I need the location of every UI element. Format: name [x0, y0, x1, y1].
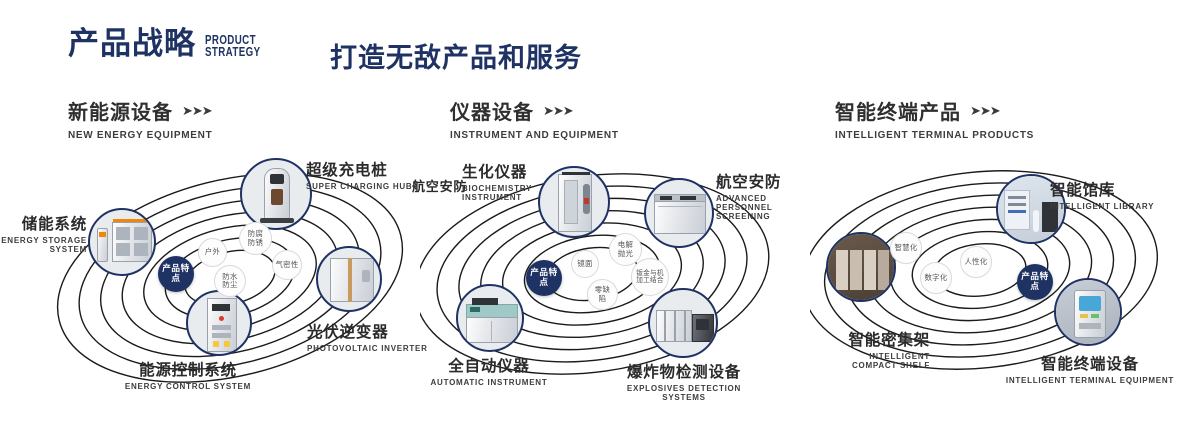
label-energy-control-system: 能源控制系统 ENERGY CONTROL SYSTEM: [98, 358, 278, 391]
terminal-kiosk-icon: [1056, 280, 1120, 344]
label-cn: 生化仪器: [462, 160, 568, 182]
cluster-instrument: 产品特点 镜面 电解抛光 零缺陷 钣金与机加工结合 航空安防 生化仪器 BIOC…: [420, 150, 820, 400]
feature-label: 产品特点: [526, 268, 562, 287]
label-en: AUTOMATIC INSTRUMENT: [414, 378, 564, 387]
section-heading-intelligent-terminal: 智能终端产品 ➤➤➤ INTELLIGENT TERMINAL PRODUCTS: [835, 96, 1034, 141]
feature-bubble-core[interactable]: 产品特点: [526, 260, 562, 296]
section-title-cn: 新能源设备: [68, 96, 173, 125]
label-en: ENERGY STORAGE SYSTEM: [0, 236, 87, 254]
feature-bubble-zero-defect[interactable]: 零缺陷: [587, 279, 618, 310]
label-compact-shelf: 智能密集架 INTELLIGENT COMPACT SHELF: [805, 328, 930, 370]
feature-bubble-sheetmetal-machining[interactable]: 钣金与机加工结合: [631, 258, 669, 296]
label-en: INTELLIGENT COMPACT SHELF: [834, 352, 930, 370]
explosives-detector-icon: [650, 290, 716, 356]
label-smart-library: 智能馆库 INTELLIGENT LIBRARY: [1050, 178, 1200, 211]
label-cn: 能源控制系统: [98, 358, 278, 380]
label-cn: 储能系统: [0, 212, 87, 234]
page-subtitle: 打造无敌产品和服务: [330, 36, 582, 75]
feature-bubble-core[interactable]: 产品特点: [158, 256, 194, 292]
feature-label: 产品特点: [1017, 272, 1053, 291]
section-title-en: INTELLIGENT TERMINAL PRODUCTS: [835, 130, 1034, 141]
section-heading-instrument: 仪器设备 ➤➤➤ INSTRUMENT AND EQUIPMENT: [450, 96, 619, 141]
label-biochemistry-instrument: 生化仪器 BIOCHEMISTRY INSTRUMENT: [462, 160, 568, 202]
label-energy-storage-system: 储能系统 ENERGY STORAGE SYSTEM: [0, 212, 87, 254]
section-title-cn: 仪器设备: [450, 96, 534, 125]
node-explosives-detector[interactable]: [648, 288, 718, 358]
section-title-en: INSTRUMENT AND EQUIPMENT: [450, 130, 619, 141]
label-cn: 爆炸物检测设备: [610, 360, 758, 382]
page-title: 产品战略 PRODUCT STRATEGY: [68, 28, 276, 59]
control-cabinet-icon: [188, 292, 250, 354]
label-cn: 智能终端设备: [1000, 352, 1180, 374]
node-energy-control-system[interactable]: [186, 290, 252, 356]
page-title-cn: 产品战略: [68, 28, 196, 59]
label-explosives-detector: 爆炸物检测设备 EXPLOSIVES DETECTION SYSTEMS: [610, 360, 758, 402]
feature-bubble-electropolishing[interactable]: 电解抛光: [609, 233, 642, 266]
label-terminal-equipment: 智能终端设备 INTELLIGENT TERMINAL EQUIPMENT: [1000, 352, 1180, 385]
section-heading-new-energy: 新能源设备 ➤➤➤ NEW ENERGY EQUIPMENT: [68, 96, 212, 141]
node-photovoltaic-inverter[interactable]: [316, 246, 382, 312]
label-automatic-instrument: 全自动仪器 AUTOMATIC INSTRUMENT: [414, 354, 564, 387]
infographic-canvas: 产品战略 PRODUCT STRATEGY 打造无敌产品和服务 新能源设备 ➤➤…: [0, 0, 1200, 422]
feature-bubble-smart[interactable]: 智慧化: [890, 232, 922, 264]
label-en: BIOCHEMISTRY INSTRUMENT: [462, 184, 546, 202]
page-title-en-line2: STRATEGY: [205, 46, 260, 58]
feature-bubble-outdoor[interactable]: 户外: [198, 238, 227, 267]
feature-label: 电解抛光: [610, 241, 641, 258]
personnel-screening-icon: [646, 180, 712, 246]
feature-label: 智慧化: [894, 244, 917, 252]
node-energy-storage-system[interactable]: [88, 208, 156, 276]
label-cn: 智能馆库: [1050, 178, 1200, 200]
chevron-right-icon: ➤➤➤: [182, 103, 212, 119]
feature-bubble-core[interactable]: 产品特点: [1017, 264, 1053, 300]
compact-shelf-icon: [828, 234, 894, 300]
feature-bubble-waterproof[interactable]: 防水防尘: [214, 265, 246, 297]
feature-bubble-airtight[interactable]: 气密性: [272, 250, 302, 280]
label-cn: 智能密集架: [805, 328, 930, 350]
node-personnel-screening[interactable]: [644, 178, 714, 248]
label-en: EXPLOSIVES DETECTION SYSTEMS: [610, 384, 758, 402]
feature-label: 镜面: [577, 260, 592, 268]
feature-bubble-humanized[interactable]: 人性化: [960, 246, 992, 278]
section-title-cn: 智能终端产品: [835, 96, 961, 125]
feature-label: 钣金与机加工结合: [632, 270, 668, 285]
label-en: INTELLIGENT LIBRARY: [1050, 202, 1200, 211]
inverter-cabinet-icon: [318, 248, 380, 310]
feature-bubble-anticorrosion[interactable]: 防腐防锈: [239, 222, 272, 255]
label-cn: 全自动仪器: [414, 354, 564, 376]
feature-label: 防腐防锈: [240, 230, 271, 247]
section-title-en: NEW ENERGY EQUIPMENT: [68, 130, 212, 141]
chevron-right-icon: ➤➤➤: [543, 103, 573, 119]
energy-storage-cabinet-icon: [90, 210, 154, 274]
charging-pile-icon: [242, 160, 310, 228]
feature-label: 零缺陷: [588, 286, 617, 303]
label-en: ENERGY CONTROL SYSTEM: [98, 382, 278, 391]
feature-label: 气密性: [275, 261, 298, 269]
feature-label: 人性化: [964, 258, 987, 266]
chevron-right-icon: ➤➤➤: [970, 103, 1000, 119]
label-en: INTELLIGENT TERMINAL EQUIPMENT: [1000, 376, 1180, 385]
cluster-new-energy: 产品特点 户外 防腐防锈 防水防尘 气密性 储能系统 ENERGY STORAG…: [40, 150, 440, 400]
cluster-intelligent-terminal: 智慧化 人性化 数字化 产品特点 智能馆库 INTELLIGENT LIBRAR…: [810, 150, 1200, 400]
page-title-en: PRODUCT STRATEGY: [205, 34, 260, 58]
feature-bubble-mirror[interactable]: 镜面: [571, 250, 599, 278]
node-terminal-kiosk[interactable]: [1054, 278, 1122, 346]
label-en: ADVANCED PERSONNEL SCREENING: [716, 194, 812, 221]
node-compact-shelf[interactable]: [826, 232, 896, 302]
feature-label: 数字化: [924, 274, 947, 282]
feature-label: 户外: [205, 248, 220, 256]
automatic-instrument-icon: [458, 286, 522, 350]
node-super-charging-hub[interactable]: [240, 158, 312, 230]
feature-bubble-digital[interactable]: 数字化: [920, 262, 952, 294]
feature-label: 防水防尘: [215, 273, 245, 290]
feature-label: 产品特点: [158, 264, 194, 283]
node-automatic-instrument[interactable]: [456, 284, 524, 352]
